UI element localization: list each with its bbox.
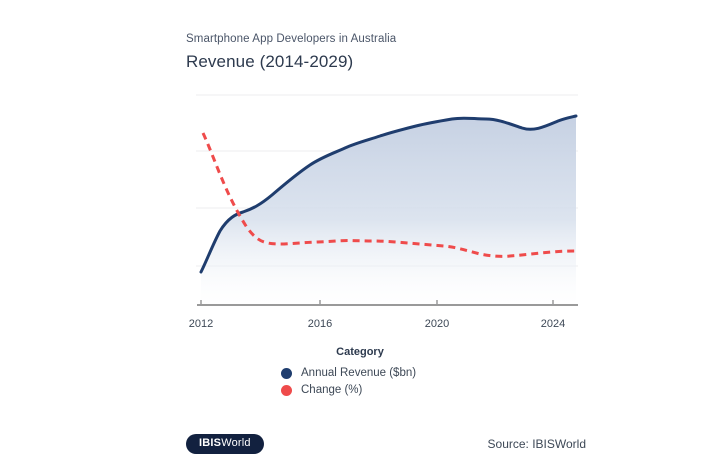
- x-tick-label-2012: 2012: [189, 318, 213, 330]
- chart-title: Revenue (2014-2029): [186, 52, 353, 72]
- legend-item-annual-revenue[interactable]: Annual Revenue ($bn): [279, 367, 441, 379]
- ibisworld-logo[interactable]: IBISWorld: [186, 434, 264, 454]
- legend-swatch-change: [281, 385, 292, 396]
- x-tick-label-2024: 2024: [541, 318, 565, 330]
- x-tick-label-2020: 2020: [425, 318, 449, 330]
- logo-bold-text: IBIS: [199, 437, 221, 449]
- legend-item-change[interactable]: Change (%): [279, 384, 441, 396]
- chart-canvas: [190, 88, 586, 312]
- plot-area: [190, 88, 586, 312]
- source-attribution: Source: IBISWorld: [488, 437, 586, 451]
- chart-figure: Smartphone App Developers in Australia R…: [0, 0, 720, 472]
- legend-swatch-annual-revenue: [281, 368, 292, 379]
- x-tick-label-2016: 2016: [308, 318, 332, 330]
- logo-regular-text: World: [221, 437, 251, 449]
- chart-footer: IBISWorld Source: IBISWorld: [186, 434, 586, 456]
- chart-subtitle: Smartphone App Developers in Australia: [186, 33, 396, 45]
- legend-label-change: Change (%): [301, 384, 362, 396]
- revenue-area: [201, 116, 576, 304]
- chart-legend: Category Annual Revenue ($bn) Change (%): [0, 346, 720, 401]
- legend-label-annual-revenue: Annual Revenue ($bn): [301, 367, 416, 379]
- legend-title: Category: [0, 346, 720, 358]
